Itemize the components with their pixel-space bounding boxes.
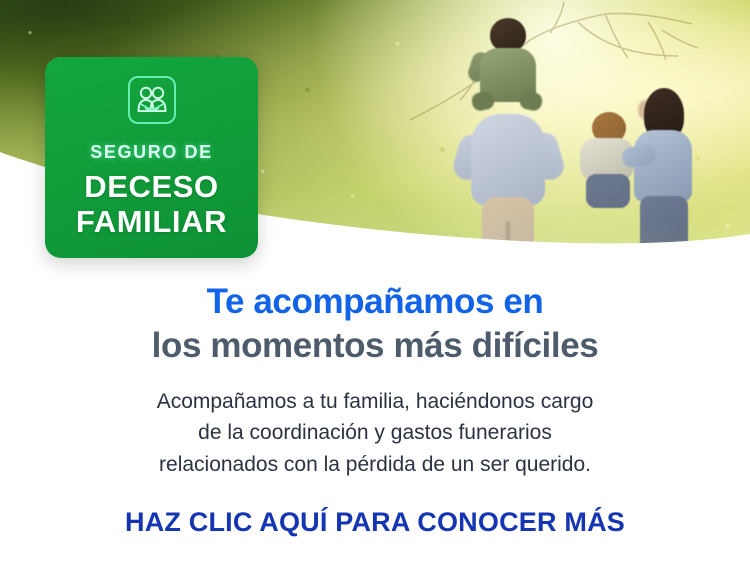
headline-line-1: Te acompañamos en [20, 280, 730, 324]
boy-head [490, 18, 526, 52]
badge-title-line-1: DECESO [45, 169, 258, 204]
description-line-2: de la coordinación y gastos funerarios [55, 417, 695, 449]
promo-content: Te acompañamos en los momentos más difíc… [0, 280, 750, 538]
product-badge-card[interactable]: SEGURO DE DECESO FAMILIAR [45, 57, 258, 258]
page-title: Te acompañamos en los momentos más difíc… [0, 280, 750, 368]
family-people-icon [127, 75, 177, 125]
figure-boy-on-shoulders [468, 18, 546, 108]
cta-link[interactable]: HAZ CLIC AQUÍ PARA CONOCER MÁS [0, 507, 750, 538]
badge-kicker-text: SEGURO DE [45, 142, 258, 163]
description-paragraph: Acompañamos a tu familia, haciéndonos ca… [55, 386, 695, 482]
promo-banner-page: SEGURO DE DECESO FAMILIAR Te acompañamos… [0, 0, 750, 584]
description-line-3: relacionados con la pérdida de un ser qu… [55, 449, 695, 481]
headline-line-2: los momentos más difíciles [20, 324, 730, 368]
description-line-1: Acompañamos a tu familia, haciéndonos ca… [55, 386, 695, 418]
badge-title-line-2: FAMILIAR [45, 204, 258, 239]
badge-title: DECESO FAMILIAR [45, 169, 258, 239]
